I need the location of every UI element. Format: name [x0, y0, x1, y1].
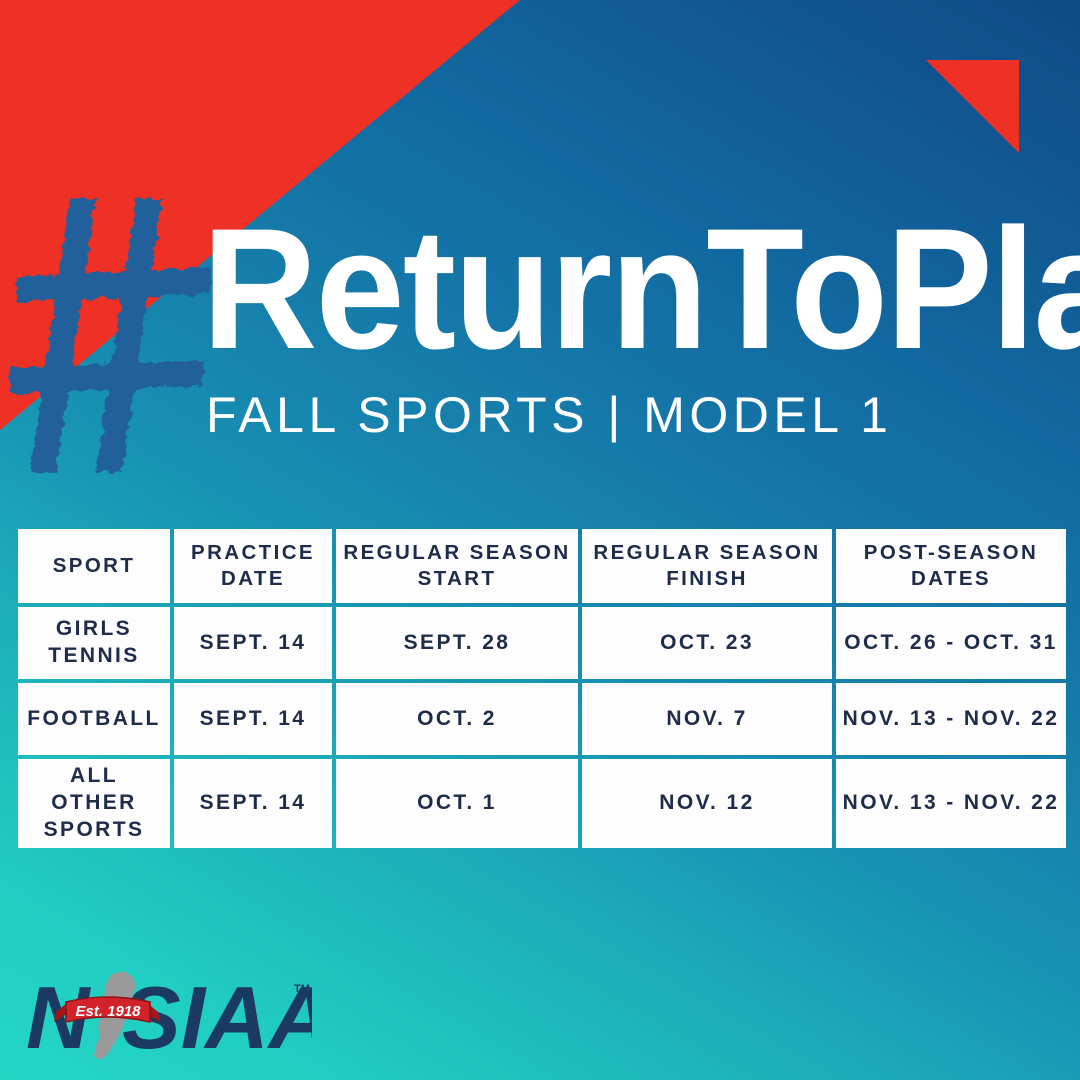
cell-regular-season-finish: NOV. 12 [582, 759, 832, 848]
column-header-regular-season-start: REGULAR SEASON START [336, 529, 578, 603]
table-row: ALL OTHER SPORTS SEPT. 14 OCT. 1 NOV. 12… [18, 759, 1066, 848]
cell-line: GIRLS [56, 617, 132, 640]
cell-post-season-dates: NOV. 13 - NOV. 22 [836, 759, 1066, 848]
cell-sport: FOOTBALL [18, 683, 170, 755]
cell-regular-season-start: OCT. 1 [336, 759, 578, 848]
cell-regular-season-finish: OCT. 23 [582, 607, 832, 679]
cell-regular-season-start: OCT. 2 [336, 683, 578, 755]
header-line: FINISH [666, 567, 748, 590]
table-row: FOOTBALL SEPT. 14 OCT. 2 NOV. 7 NOV. 13 … [18, 683, 1066, 755]
hashtag-icon [8, 190, 218, 480]
cell-practice-date: SEPT. 14 [174, 759, 332, 848]
cell-regular-season-finish: NOV. 7 [582, 683, 832, 755]
header-line: POST-SEASON [864, 541, 1039, 564]
column-header-post-season-dates: POST-SEASON DATES [836, 529, 1066, 603]
cell-post-season-dates: NOV. 13 - NOV. 22 [836, 683, 1066, 755]
page-subtitle: FALL SPORTS | MODEL 1 [206, 386, 1062, 444]
cell-line: TENNIS [48, 644, 139, 667]
infographic-canvas: ReturnToPlay FALL SPORTS | MODEL 1 SPORT… [0, 0, 1080, 1080]
est-1918-ribbon: Est. 1918 [54, 997, 160, 1022]
cell-line: FOOTBALL [27, 707, 161, 730]
njsiaa-logo: N SIAA Est. 1918 TM [26, 968, 312, 1062]
page-title: ReturnToPlay [202, 210, 1002, 368]
header-line: REGULAR SEASON [343, 541, 570, 564]
table-row: GIRLS TENNIS SEPT. 14 SEPT. 28 OCT. 23 O… [18, 607, 1066, 679]
cell-practice-date: SEPT. 14 [174, 607, 332, 679]
cell-sport: ALL OTHER SPORTS [18, 759, 170, 848]
column-header-regular-season-finish: REGULAR SEASON FINISH [582, 529, 832, 603]
cell-sport: GIRLS TENNIS [18, 607, 170, 679]
cell-practice-date: SEPT. 14 [174, 683, 332, 755]
cell-post-season-dates: OCT. 26 - OCT. 31 [836, 607, 1066, 679]
header-line: DATE [221, 567, 285, 590]
cell-regular-season-start: SEPT. 28 [336, 607, 578, 679]
header-line: START [418, 567, 497, 590]
column-header-sport: SPORT [18, 529, 170, 603]
header-line: PRACTICE [191, 541, 315, 564]
red-corner-triangle-icon [926, 60, 1019, 153]
column-header-practice-date: PRACTICE DATE [174, 529, 332, 603]
header-line: SPORT [53, 554, 136, 577]
schedule-table: SPORT PRACTICE DATE REGULAR SEASON START… [14, 525, 1070, 852]
header-line: REGULAR SEASON [593, 541, 820, 564]
headline-block: ReturnToPlay FALL SPORTS | MODEL 1 [202, 210, 1062, 444]
table-header-row: SPORT PRACTICE DATE REGULAR SEASON START… [18, 529, 1066, 603]
trademark-mark: TM [294, 983, 310, 995]
header-line: DATES [911, 567, 991, 590]
cell-line: ALL OTHER [51, 764, 137, 814]
ribbon-text: Est. 1918 [75, 1003, 141, 1020]
cell-line: SPORTS [44, 818, 145, 841]
